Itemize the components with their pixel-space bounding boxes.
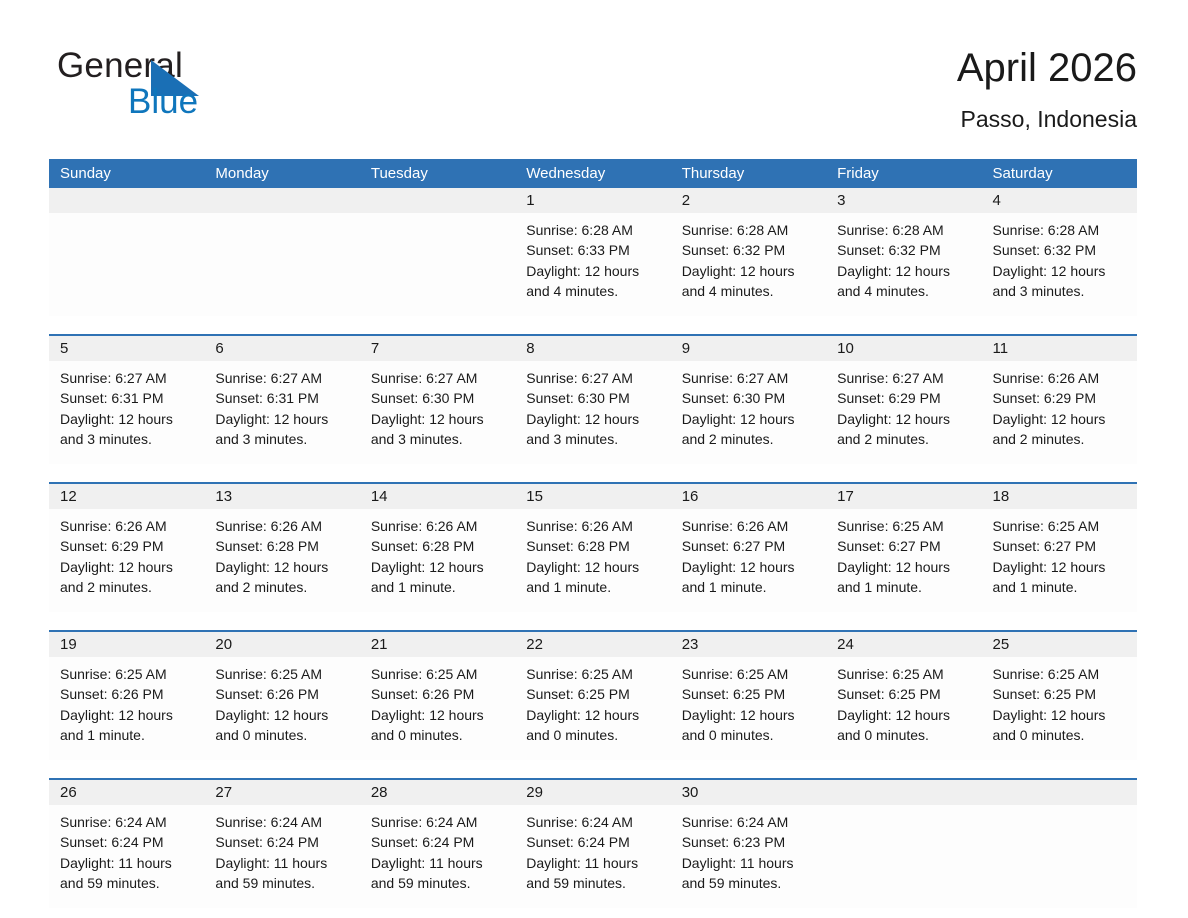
day-detail-band: Sunrise: 6:28 AMSunset: 6:33 PMDaylight:…	[49, 213, 1137, 316]
day-cell-16[interactable]: Sunrise: 6:26 AMSunset: 6:27 PMDaylight:…	[671, 509, 826, 612]
sunset-text: Sunset: 6:25 PM	[993, 684, 1126, 704]
day-number-band: 19202122232425	[49, 632, 1137, 657]
daylight-text: Daylight: 12 hours and 3 minutes.	[526, 409, 659, 450]
page-header: General Blue April 2026 Passo, Indonesia	[49, 44, 1137, 148]
daylight-text: Daylight: 12 hours and 3 minutes.	[215, 409, 348, 450]
calendar-week-row: 12131415161718Sunrise: 6:26 AMSunset: 6:…	[49, 482, 1137, 612]
day-number-4[interactable]: 4	[982, 188, 1137, 213]
day-number-1[interactable]: 1	[515, 188, 670, 213]
day-cell-2[interactable]: Sunrise: 6:28 AMSunset: 6:32 PMDaylight:…	[671, 213, 826, 316]
sunset-text: Sunset: 6:28 PM	[371, 536, 504, 556]
sunset-text: Sunset: 6:32 PM	[682, 240, 815, 260]
daylight-text: Daylight: 12 hours and 0 minutes.	[526, 705, 659, 746]
calendar-page: General Blue April 2026 Passo, Indonesia…	[0, 0, 1188, 918]
daylight-text: Daylight: 12 hours and 2 minutes.	[837, 409, 970, 450]
sunset-text: Sunset: 6:24 PM	[526, 832, 659, 852]
sunrise-text: Sunrise: 6:27 AM	[371, 368, 504, 388]
sunrise-text: Sunrise: 6:25 AM	[993, 664, 1126, 684]
sunrise-text: Sunrise: 6:25 AM	[371, 664, 504, 684]
daylight-text: Daylight: 12 hours and 2 minutes.	[682, 409, 815, 450]
day-number-29[interactable]: 29	[515, 780, 670, 805]
sunrise-text: Sunrise: 6:27 AM	[837, 368, 970, 388]
weekday-header-tuesday: Tuesday	[360, 159, 515, 188]
day-cell-11[interactable]: Sunrise: 6:26 AMSunset: 6:29 PMDaylight:…	[982, 361, 1137, 464]
day-number-22[interactable]: 22	[515, 632, 670, 657]
day-number-11[interactable]: 11	[982, 336, 1137, 361]
sunrise-text: Sunrise: 6:26 AM	[371, 516, 504, 536]
sunrise-text: Sunrise: 6:27 AM	[526, 368, 659, 388]
sunset-text: Sunset: 6:26 PM	[60, 684, 193, 704]
sunset-text: Sunset: 6:33 PM	[526, 240, 659, 260]
day-cell-28[interactable]: Sunrise: 6:24 AMSunset: 6:24 PMDaylight:…	[360, 805, 515, 908]
day-number-13[interactable]: 13	[204, 484, 359, 509]
day-number-16[interactable]: 16	[671, 484, 826, 509]
day-number-12[interactable]: 12	[49, 484, 204, 509]
day-cell-24[interactable]: Sunrise: 6:25 AMSunset: 6:25 PMDaylight:…	[826, 657, 981, 760]
calendar-weeks: 1234Sunrise: 6:28 AMSunset: 6:33 PMDayli…	[49, 188, 1137, 908]
day-number-9[interactable]: 9	[671, 336, 826, 361]
sunrise-text: Sunrise: 6:24 AM	[215, 812, 348, 832]
sunset-text: Sunset: 6:29 PM	[60, 536, 193, 556]
day-cell-22[interactable]: Sunrise: 6:25 AMSunset: 6:25 PMDaylight:…	[515, 657, 670, 760]
day-number-19[interactable]: 19	[49, 632, 204, 657]
day-number-6[interactable]: 6	[204, 336, 359, 361]
sunrise-text: Sunrise: 6:28 AM	[837, 220, 970, 240]
week-spacer	[49, 612, 1137, 630]
day-cell-23[interactable]: Sunrise: 6:25 AMSunset: 6:25 PMDaylight:…	[671, 657, 826, 760]
daylight-text: Daylight: 12 hours and 3 minutes.	[993, 261, 1126, 302]
day-cell-17[interactable]: Sunrise: 6:25 AMSunset: 6:27 PMDaylight:…	[826, 509, 981, 612]
day-number-15[interactable]: 15	[515, 484, 670, 509]
sunset-text: Sunset: 6:29 PM	[993, 388, 1126, 408]
day-cell-8[interactable]: Sunrise: 6:27 AMSunset: 6:30 PMDaylight:…	[515, 361, 670, 464]
day-number-empty	[204, 188, 359, 213]
day-cell-9[interactable]: Sunrise: 6:27 AMSunset: 6:30 PMDaylight:…	[671, 361, 826, 464]
day-number-empty	[360, 188, 515, 213]
sunrise-text: Sunrise: 6:28 AM	[526, 220, 659, 240]
sunrise-text: Sunrise: 6:27 AM	[682, 368, 815, 388]
weekday-header-friday: Friday	[826, 159, 981, 188]
weekday-header-thursday: Thursday	[671, 159, 826, 188]
day-number-10[interactable]: 10	[826, 336, 981, 361]
daylight-text: Daylight: 12 hours and 4 minutes.	[526, 261, 659, 302]
day-detail-band: Sunrise: 6:26 AMSunset: 6:29 PMDaylight:…	[49, 509, 1137, 612]
daylight-text: Daylight: 12 hours and 4 minutes.	[837, 261, 970, 302]
sunrise-text: Sunrise: 6:26 AM	[215, 516, 348, 536]
daylight-text: Daylight: 12 hours and 3 minutes.	[371, 409, 504, 450]
day-cell-14[interactable]: Sunrise: 6:26 AMSunset: 6:28 PMDaylight:…	[360, 509, 515, 612]
day-detail-band: Sunrise: 6:27 AMSunset: 6:31 PMDaylight:…	[49, 361, 1137, 464]
daylight-text: Daylight: 12 hours and 2 minutes.	[993, 409, 1126, 450]
sunset-text: Sunset: 6:24 PM	[60, 832, 193, 852]
day-cell-18[interactable]: Sunrise: 6:25 AMSunset: 6:27 PMDaylight:…	[982, 509, 1137, 612]
day-cell-empty	[360, 213, 515, 316]
day-cell-1[interactable]: Sunrise: 6:28 AMSunset: 6:33 PMDaylight:…	[515, 213, 670, 316]
sunset-text: Sunset: 6:29 PM	[837, 388, 970, 408]
day-cell-empty	[982, 805, 1137, 908]
day-number-24[interactable]: 24	[826, 632, 981, 657]
day-number-empty	[49, 188, 204, 213]
daylight-text: Daylight: 12 hours and 2 minutes.	[60, 557, 193, 598]
day-number-17[interactable]: 17	[826, 484, 981, 509]
day-number-28[interactable]: 28	[360, 780, 515, 805]
sunrise-text: Sunrise: 6:26 AM	[993, 368, 1126, 388]
sunrise-text: Sunrise: 6:25 AM	[837, 516, 970, 536]
calendar-week-row: 567891011Sunrise: 6:27 AMSunset: 6:31 PM…	[49, 334, 1137, 464]
day-cell-empty	[826, 805, 981, 908]
day-cell-4[interactable]: Sunrise: 6:28 AMSunset: 6:32 PMDaylight:…	[982, 213, 1137, 316]
daylight-text: Daylight: 12 hours and 0 minutes.	[371, 705, 504, 746]
day-number-band: 567891011	[49, 336, 1137, 361]
daylight-text: Daylight: 12 hours and 1 minute.	[60, 705, 193, 746]
sunrise-text: Sunrise: 6:25 AM	[682, 664, 815, 684]
day-cell-3[interactable]: Sunrise: 6:28 AMSunset: 6:32 PMDaylight:…	[826, 213, 981, 316]
weekday-header-saturday: Saturday	[982, 159, 1137, 188]
brand-name-blue: Blue	[128, 82, 198, 122]
daylight-text: Daylight: 12 hours and 0 minutes.	[215, 705, 348, 746]
sunset-text: Sunset: 6:27 PM	[682, 536, 815, 556]
day-number-band: 2627282930	[49, 780, 1137, 805]
weekday-header-monday: Monday	[204, 159, 359, 188]
sunrise-text: Sunrise: 6:25 AM	[993, 516, 1126, 536]
sunrise-text: Sunrise: 6:24 AM	[682, 812, 815, 832]
day-cell-12[interactable]: Sunrise: 6:26 AMSunset: 6:29 PMDaylight:…	[49, 509, 204, 612]
calendar-table: SundayMondayTuesdayWednesdayThursdayFrid…	[49, 159, 1137, 908]
day-cell-6[interactable]: Sunrise: 6:27 AMSunset: 6:31 PMDaylight:…	[204, 361, 359, 464]
daylight-text: Daylight: 12 hours and 1 minute.	[371, 557, 504, 598]
daylight-text: Daylight: 12 hours and 0 minutes.	[993, 705, 1126, 746]
day-number-20[interactable]: 20	[204, 632, 359, 657]
week-spacer	[49, 760, 1137, 778]
day-cell-empty	[204, 213, 359, 316]
daylight-text: Daylight: 11 hours and 59 minutes.	[526, 853, 659, 894]
weekday-header-wednesday: Wednesday	[515, 159, 670, 188]
sunset-text: Sunset: 6:23 PM	[682, 832, 815, 852]
sunset-text: Sunset: 6:28 PM	[526, 536, 659, 556]
day-cell-29[interactable]: Sunrise: 6:24 AMSunset: 6:24 PMDaylight:…	[515, 805, 670, 908]
day-cell-10[interactable]: Sunrise: 6:27 AMSunset: 6:29 PMDaylight:…	[826, 361, 981, 464]
day-cell-empty	[49, 213, 204, 316]
day-detail-band: Sunrise: 6:24 AMSunset: 6:24 PMDaylight:…	[49, 805, 1137, 908]
sunset-text: Sunset: 6:32 PM	[993, 240, 1126, 260]
day-number-empty	[826, 780, 981, 805]
sunrise-text: Sunrise: 6:24 AM	[60, 812, 193, 832]
day-number-band: 12131415161718	[49, 484, 1137, 509]
day-number-21[interactable]: 21	[360, 632, 515, 657]
sunrise-text: Sunrise: 6:25 AM	[526, 664, 659, 684]
sunrise-text: Sunrise: 6:27 AM	[215, 368, 348, 388]
daylight-text: Daylight: 12 hours and 1 minute.	[993, 557, 1126, 598]
sunset-text: Sunset: 6:28 PM	[215, 536, 348, 556]
day-number-25[interactable]: 25	[982, 632, 1137, 657]
day-cell-15[interactable]: Sunrise: 6:26 AMSunset: 6:28 PMDaylight:…	[515, 509, 670, 612]
weekday-header-row: SundayMondayTuesdayWednesdayThursdayFrid…	[49, 159, 1137, 188]
sunrise-text: Sunrise: 6:26 AM	[682, 516, 815, 536]
sunset-text: Sunset: 6:30 PM	[371, 388, 504, 408]
sunset-text: Sunset: 6:31 PM	[60, 388, 193, 408]
sunset-text: Sunset: 6:26 PM	[371, 684, 504, 704]
sunrise-text: Sunrise: 6:24 AM	[371, 812, 504, 832]
day-cell-25[interactable]: Sunrise: 6:25 AMSunset: 6:25 PMDaylight:…	[982, 657, 1137, 760]
sunrise-text: Sunrise: 6:24 AM	[526, 812, 659, 832]
daylight-text: Daylight: 12 hours and 1 minute.	[526, 557, 659, 598]
page-title: April 2026	[957, 42, 1137, 94]
daylight-text: Daylight: 12 hours and 3 minutes.	[60, 409, 193, 450]
daylight-text: Daylight: 11 hours and 59 minutes.	[215, 853, 348, 894]
day-number-7[interactable]: 7	[360, 336, 515, 361]
day-cell-27[interactable]: Sunrise: 6:24 AMSunset: 6:24 PMDaylight:…	[204, 805, 359, 908]
sunset-text: Sunset: 6:25 PM	[837, 684, 970, 704]
day-number-3[interactable]: 3	[826, 188, 981, 213]
sunset-text: Sunset: 6:30 PM	[526, 388, 659, 408]
calendar-week-row: 19202122232425Sunrise: 6:25 AMSunset: 6:…	[49, 630, 1137, 760]
day-cell-5[interactable]: Sunrise: 6:27 AMSunset: 6:31 PMDaylight:…	[49, 361, 204, 464]
brand-logo[interactable]: General Blue	[49, 44, 349, 144]
sunrise-text: Sunrise: 6:27 AM	[60, 368, 193, 388]
sunset-text: Sunset: 6:25 PM	[526, 684, 659, 704]
day-cell-20[interactable]: Sunrise: 6:25 AMSunset: 6:26 PMDaylight:…	[204, 657, 359, 760]
sunrise-text: Sunrise: 6:26 AM	[60, 516, 193, 536]
daylight-text: Daylight: 12 hours and 1 minute.	[682, 557, 815, 598]
day-number-8[interactable]: 8	[515, 336, 670, 361]
calendar-week-row: 2627282930Sunrise: 6:24 AMSunset: 6:24 P…	[49, 778, 1137, 908]
daylight-text: Daylight: 12 hours and 1 minute.	[837, 557, 970, 598]
calendar-week-row: 1234Sunrise: 6:28 AMSunset: 6:33 PMDayli…	[49, 188, 1137, 316]
day-number-band: 1234	[49, 188, 1137, 213]
day-cell-30[interactable]: Sunrise: 6:24 AMSunset: 6:23 PMDaylight:…	[671, 805, 826, 908]
daylight-text: Daylight: 12 hours and 4 minutes.	[682, 261, 815, 302]
day-detail-band: Sunrise: 6:25 AMSunset: 6:26 PMDaylight:…	[49, 657, 1137, 760]
day-cell-13[interactable]: Sunrise: 6:26 AMSunset: 6:28 PMDaylight:…	[204, 509, 359, 612]
day-number-30[interactable]: 30	[671, 780, 826, 805]
day-cell-19[interactable]: Sunrise: 6:25 AMSunset: 6:26 PMDaylight:…	[49, 657, 204, 760]
week-spacer	[49, 464, 1137, 482]
daylight-text: Daylight: 12 hours and 2 minutes.	[215, 557, 348, 598]
day-number-18[interactable]: 18	[982, 484, 1137, 509]
title-block: April 2026 Passo, Indonesia	[957, 42, 1137, 134]
day-number-26[interactable]: 26	[49, 780, 204, 805]
day-number-23[interactable]: 23	[671, 632, 826, 657]
day-number-empty	[982, 780, 1137, 805]
sunset-text: Sunset: 6:24 PM	[215, 832, 348, 852]
daylight-text: Daylight: 11 hours and 59 minutes.	[371, 853, 504, 894]
sunset-text: Sunset: 6:26 PM	[215, 684, 348, 704]
day-cell-21[interactable]: Sunrise: 6:25 AMSunset: 6:26 PMDaylight:…	[360, 657, 515, 760]
sunset-text: Sunset: 6:27 PM	[993, 536, 1126, 556]
sunset-text: Sunset: 6:25 PM	[682, 684, 815, 704]
sunrise-text: Sunrise: 6:26 AM	[526, 516, 659, 536]
day-number-5[interactable]: 5	[49, 336, 204, 361]
daylight-text: Daylight: 12 hours and 0 minutes.	[837, 705, 970, 746]
day-cell-26[interactable]: Sunrise: 6:24 AMSunset: 6:24 PMDaylight:…	[49, 805, 204, 908]
daylight-text: Daylight: 12 hours and 0 minutes.	[682, 705, 815, 746]
sunrise-text: Sunrise: 6:28 AM	[993, 220, 1126, 240]
day-number-27[interactable]: 27	[204, 780, 359, 805]
week-spacer	[49, 316, 1137, 334]
day-number-2[interactable]: 2	[671, 188, 826, 213]
sunset-text: Sunset: 6:31 PM	[215, 388, 348, 408]
sunset-text: Sunset: 6:30 PM	[682, 388, 815, 408]
sunrise-text: Sunrise: 6:25 AM	[215, 664, 348, 684]
daylight-text: Daylight: 11 hours and 59 minutes.	[682, 853, 815, 894]
daylight-text: Daylight: 11 hours and 59 minutes.	[60, 853, 193, 894]
sunrise-text: Sunrise: 6:28 AM	[682, 220, 815, 240]
sunset-text: Sunset: 6:27 PM	[837, 536, 970, 556]
day-number-14[interactable]: 14	[360, 484, 515, 509]
weekday-header-sunday: Sunday	[49, 159, 204, 188]
location-subtitle: Passo, Indonesia	[957, 104, 1137, 134]
sunrise-text: Sunrise: 6:25 AM	[837, 664, 970, 684]
sunset-text: Sunset: 6:32 PM	[837, 240, 970, 260]
sunset-text: Sunset: 6:24 PM	[371, 832, 504, 852]
sunrise-text: Sunrise: 6:25 AM	[60, 664, 193, 684]
day-cell-7[interactable]: Sunrise: 6:27 AMSunset: 6:30 PMDaylight:…	[360, 361, 515, 464]
